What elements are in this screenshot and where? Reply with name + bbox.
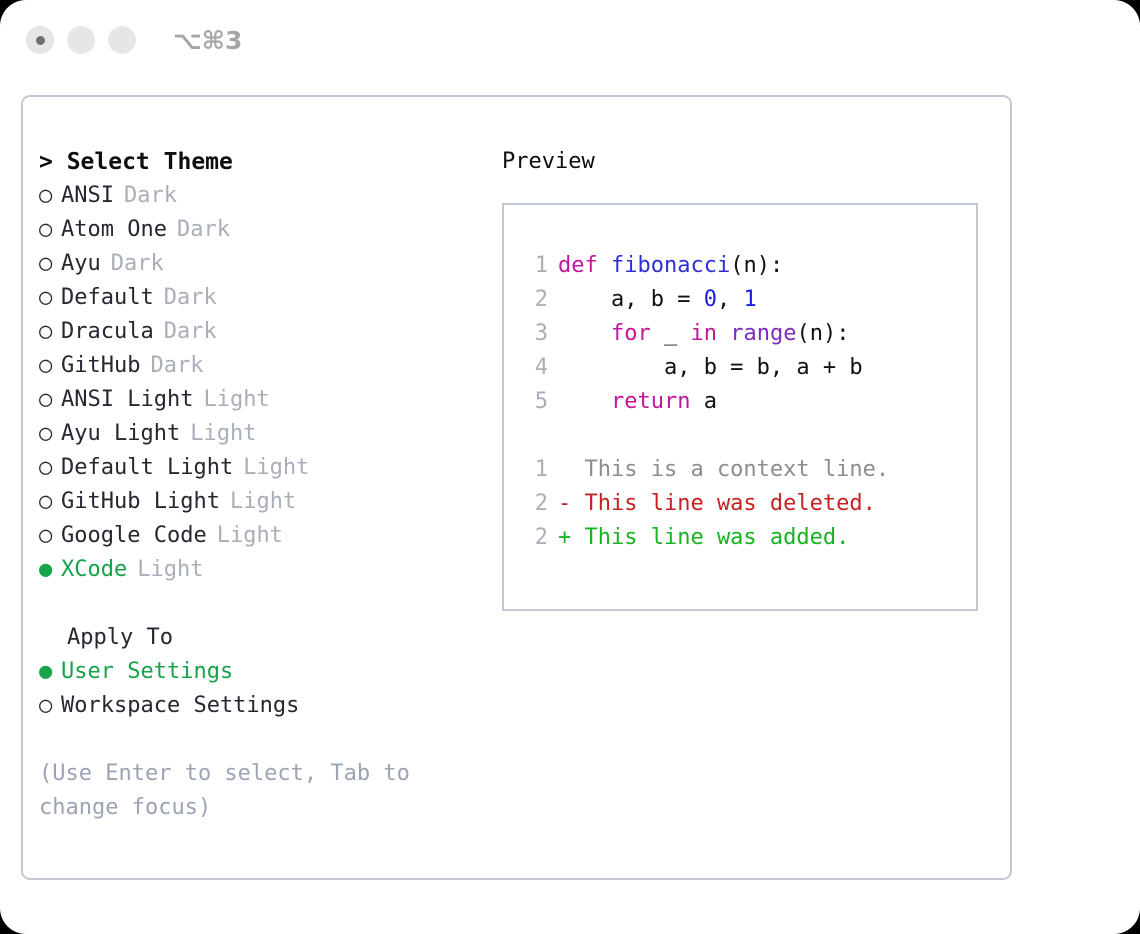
- list-spacer: [39, 587, 469, 621]
- theme-option-kind: Dark: [150, 349, 203, 383]
- radio-unselected-icon: ○: [39, 247, 61, 281]
- apply-to-option-workspace-settings[interactable]: ○ Workspace Settings: [39, 689, 469, 723]
- apply-to-heading: Apply To: [39, 621, 469, 655]
- diff-line-added: 2 + This line was added.: [518, 521, 976, 555]
- code-token: a: [690, 389, 717, 414]
- code-content: def fibonacci(n):: [558, 249, 783, 283]
- radio-unselected-icon: ○: [39, 417, 61, 451]
- theme-option-default-dark[interactable]: ○ Default Dark: [39, 281, 469, 315]
- code-content: for _ in range(n):: [558, 317, 849, 351]
- radio-unselected-icon: ○: [39, 349, 61, 383]
- radio-selected-icon: ●: [39, 553, 61, 587]
- theme-option-google-code-light[interactable]: ○ Google Code Light: [39, 519, 469, 553]
- preview-heading: Preview: [502, 145, 982, 179]
- theme-option-kind: Light: [203, 383, 269, 417]
- theme-option-ansi-dark[interactable]: ○ ANSI Dark: [39, 179, 469, 213]
- theme-option-kind: Dark: [164, 281, 217, 315]
- window-dot-2-icon[interactable]: [67, 26, 95, 54]
- apply-to-option-user-settings[interactable]: ● User Settings: [39, 655, 469, 689]
- code-content: return a: [558, 385, 717, 419]
- keyboard-shortcut-label: ⌥⌘3: [173, 26, 242, 55]
- theme-option-kind: Dark: [177, 213, 230, 247]
- apply-to-option-label: Workspace Settings: [61, 689, 299, 723]
- code-token: _: [651, 321, 691, 346]
- radio-unselected-icon: ○: [39, 315, 61, 349]
- diff-line-context: 1 This is a context line.: [518, 453, 976, 487]
- theme-option-kind: Dark: [124, 179, 177, 213]
- theme-option-list: ○ ANSI Dark ○ Atom One Dark ○ Ayu Dark: [39, 179, 469, 587]
- theme-option-github-dark[interactable]: ○ GitHub Dark: [39, 349, 469, 383]
- radio-selected-icon: ●: [39, 655, 61, 689]
- code-content: a, b = 0, 1: [558, 283, 757, 317]
- window-dot-3-icon[interactable]: [108, 26, 136, 54]
- line-number: 2: [518, 521, 548, 555]
- code-line: 1 def fibonacci(n):: [518, 249, 976, 283]
- apply-to-option-list: ● User Settings ○ Workspace Settings: [39, 655, 469, 723]
- radio-unselected-icon: ○: [39, 383, 61, 417]
- theme-option-label: Google Code: [61, 519, 207, 553]
- preview-divider-space: [518, 419, 976, 453]
- code-token: in: [690, 321, 717, 346]
- theme-option-kind: Light: [137, 553, 203, 587]
- theme-option-kind: Dark: [111, 247, 164, 281]
- theme-option-label: Default: [61, 281, 154, 315]
- line-number: 2: [518, 283, 548, 317]
- code-token: [558, 321, 611, 346]
- code-token: def: [558, 253, 611, 278]
- line-number: 2: [518, 487, 548, 521]
- code-line: 5 return a: [518, 385, 976, 419]
- app-window: ⌥⌘3 > Select Theme ○ ANSI Dark ○ Atom On…: [0, 0, 1140, 934]
- theme-option-label: GitHub: [61, 349, 140, 383]
- line-number: 5: [518, 385, 548, 419]
- theme-option-ayu-light[interactable]: ○ Ayu Light Light: [39, 417, 469, 451]
- theme-option-github-light[interactable]: ○ GitHub Light Light: [39, 485, 469, 519]
- code-token: [558, 389, 611, 414]
- code-token: (n):: [730, 253, 783, 278]
- code-token: a, b =: [558, 287, 704, 312]
- theme-option-xcode-light[interactable]: ● XCode Light: [39, 553, 469, 587]
- radio-unselected-icon: ○: [39, 485, 61, 519]
- theme-option-label: ANSI: [61, 179, 114, 213]
- window-dot-active-inner-icon: [36, 36, 45, 45]
- select-theme-heading: > Select Theme: [39, 145, 469, 179]
- code-token: fibonacci: [611, 253, 730, 278]
- keyboard-hint-text: (Use Enter to select, Tab to change focu…: [39, 757, 444, 825]
- theme-option-kind: Light: [217, 519, 283, 553]
- theme-option-kind: Light: [190, 417, 256, 451]
- diff-line-deleted: 2 - This line was deleted.: [518, 487, 976, 521]
- code-token: return: [611, 389, 690, 414]
- code-token: a, b = b, a + b: [558, 355, 863, 380]
- diff-content: + This line was added.: [558, 521, 849, 555]
- code-token: for: [611, 321, 651, 346]
- preview-column: Preview 1 def fibonacci(n): 2 a, b = 0, …: [502, 145, 982, 611]
- code-token: 1: [743, 287, 756, 312]
- code-token: [717, 321, 730, 346]
- theme-option-ayu-dark[interactable]: ○ Ayu Dark: [39, 247, 469, 281]
- window-controls: [26, 26, 136, 54]
- code-line: 2 a, b = 0, 1: [518, 283, 976, 317]
- theme-selector-panel: > Select Theme ○ ANSI Dark ○ Atom One Da…: [21, 95, 1012, 880]
- preview-box: 1 def fibonacci(n): 2 a, b = 0, 1 3 for …: [502, 203, 978, 611]
- theme-option-atom-one-dark[interactable]: ○ Atom One Dark: [39, 213, 469, 247]
- hint-spacer: [39, 723, 469, 757]
- theme-option-label: Ayu Light: [61, 417, 180, 451]
- theme-option-default-light[interactable]: ○ Default Light Light: [39, 451, 469, 485]
- diff-content: This is a context line.: [558, 453, 889, 487]
- radio-unselected-icon: ○: [39, 213, 61, 247]
- code-token: ,: [717, 287, 744, 312]
- code-preview: 1 def fibonacci(n): 2 a, b = 0, 1 3 for …: [518, 249, 976, 419]
- theme-option-kind: Dark: [164, 315, 217, 349]
- code-token: range: [730, 321, 796, 346]
- theme-option-label: Default Light: [61, 451, 233, 485]
- theme-option-dracula-dark[interactable]: ○ Dracula Dark: [39, 315, 469, 349]
- line-number: 4: [518, 351, 548, 385]
- theme-option-ansi-light[interactable]: ○ ANSI Light Light: [39, 383, 469, 417]
- theme-option-label: XCode: [61, 553, 127, 587]
- code-line: 4 a, b = b, a + b: [518, 351, 976, 385]
- radio-unselected-icon: ○: [39, 451, 61, 485]
- apply-to-option-label: User Settings: [61, 655, 233, 689]
- theme-option-kind: Light: [243, 451, 309, 485]
- line-number: 3: [518, 317, 548, 351]
- theme-option-label: Ayu: [61, 247, 101, 281]
- radio-unselected-icon: ○: [39, 689, 61, 723]
- radio-unselected-icon: ○: [39, 179, 61, 213]
- line-number: 1: [518, 249, 548, 283]
- radio-unselected-icon: ○: [39, 281, 61, 315]
- theme-option-label: GitHub Light: [61, 485, 220, 519]
- code-line: 3 for _ in range(n):: [518, 317, 976, 351]
- theme-option-label: ANSI Light: [61, 383, 193, 417]
- theme-option-kind: Light: [230, 485, 296, 519]
- code-content: a, b = b, a + b: [558, 351, 863, 385]
- theme-option-label: Atom One: [61, 213, 167, 247]
- radio-unselected-icon: ○: [39, 519, 61, 553]
- theme-list-column: > Select Theme ○ ANSI Dark ○ Atom One Da…: [39, 145, 469, 825]
- diff-content: - This line was deleted.: [558, 487, 876, 521]
- code-token: 0: [704, 287, 717, 312]
- theme-option-label: Dracula: [61, 315, 154, 349]
- code-token: (n):: [796, 321, 849, 346]
- window-titlebar: ⌥⌘3: [0, 0, 1140, 80]
- line-number: 1: [518, 453, 548, 487]
- window-dot-active-icon[interactable]: [26, 26, 54, 54]
- diff-preview: 1 This is a context line. 2 - This line …: [518, 453, 976, 555]
